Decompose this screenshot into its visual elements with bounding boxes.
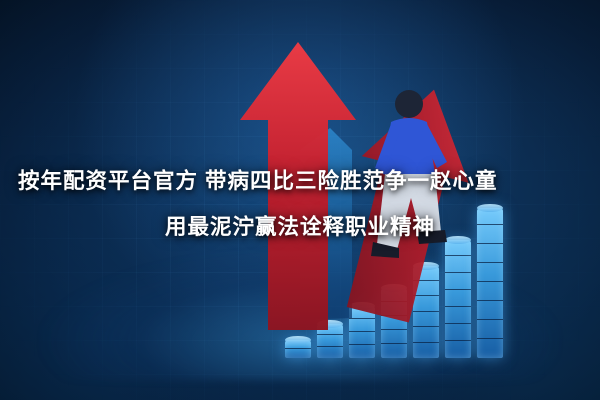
caption-line-1: 按年配资平台官方 带病四比三险胜范争一赵心童 <box>14 158 586 204</box>
caption-overlay: 按年配资平台官方 带病四比三险胜范争一赵心童 用最泥泞赢法诠释职业精神 <box>0 158 600 250</box>
caption-line-2: 用最泥泞赢法诠释职业精神 <box>14 204 586 250</box>
screenshot-canvas: 按年配资平台官方 带病四比三险胜范争一赵心童 用最泥泞赢法诠释职业精神 <box>0 0 600 400</box>
figure-head <box>395 90 423 118</box>
